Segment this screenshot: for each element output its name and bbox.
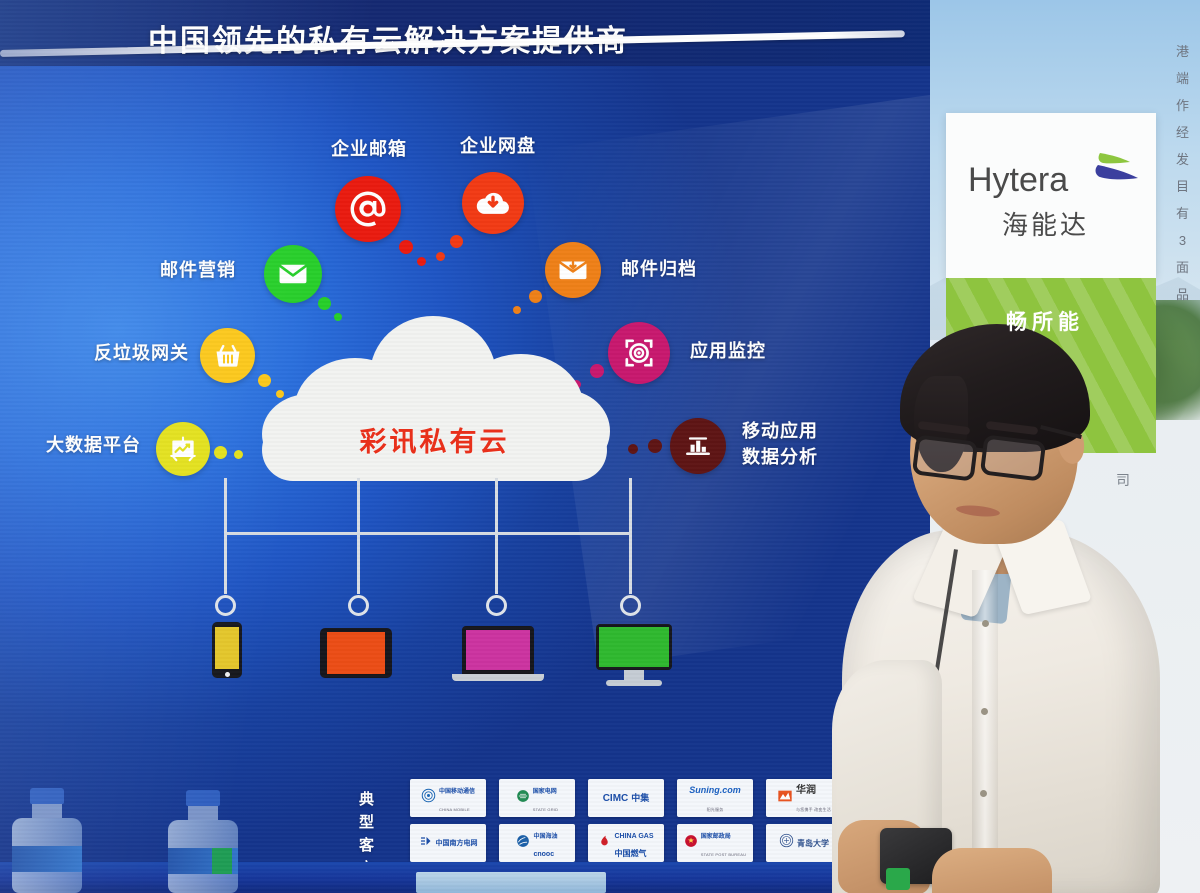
monitor-neck [624, 670, 644, 680]
customer-logo-suning: Suning.com 阳光服务 [677, 779, 753, 817]
device-desktop-monitor [596, 624, 672, 686]
bottle-label [12, 846, 82, 872]
logo-cn: 中集 [631, 795, 649, 802]
connector-ring [620, 595, 641, 616]
cloud-solution-banner: 中国领先的私有云解决方案提供商 企业邮箱 企业网盘 [0, 0, 930, 893]
trail-dot [417, 257, 426, 266]
customer-logo-grid: 中国移动通信 CHINA MOBILE 国家电网 STATE GRID CIMC [410, 779, 842, 869]
bottle-cap [30, 788, 64, 804]
connector-ring [348, 595, 369, 616]
customers-label-char: 典 [356, 788, 378, 811]
shirt-button [980, 790, 987, 797]
device-smartphone [212, 622, 242, 678]
green-banner-text: 畅所能 [1006, 306, 1084, 336]
bottle-neck [188, 806, 218, 820]
customer-logo-china-gas: CHINA GAS 中国燃气 [588, 824, 664, 862]
chart-easel-icon [156, 422, 210, 476]
basket-icon [200, 328, 255, 383]
logo-text-block: CHINA GAS 中国燃气 [614, 825, 653, 861]
node-label-mobile-app-analytics-line1: 移动应用 [742, 420, 818, 443]
hytera-wing-icon [1068, 147, 1146, 202]
bottle-neck [32, 804, 62, 818]
person-foreground [836, 320, 1166, 893]
paper-on-table [416, 872, 606, 893]
device-tablet [320, 628, 392, 678]
customers-label-char: 型 [356, 811, 378, 834]
monitor-screen [599, 627, 669, 667]
shirt-button [981, 708, 988, 715]
connector-trunk [224, 478, 227, 534]
logo-sub: 阳光服务 [707, 807, 724, 812]
bottle-cap [186, 790, 220, 806]
logo-cn: 中国移动通信 [439, 789, 475, 795]
state-grid-mark [516, 789, 530, 808]
customer-logo-china-resources: 华润 与您携手 改变生活 [766, 779, 842, 817]
customer-logo-china-mobile: 中国移动通信 CHINA MOBILE [410, 779, 486, 817]
customer-logo-university: 青岛大学 [766, 824, 842, 862]
logo-en: cnooc [533, 851, 554, 858]
target-monitor-icon [608, 322, 670, 384]
trail-dot [648, 439, 662, 453]
node-label-enterprise-disk: 企业网盘 [460, 135, 536, 158]
laptop-lid [462, 626, 534, 674]
logo-en: STATE POST BUREAU [701, 852, 746, 857]
cloud-download-icon [462, 172, 524, 234]
connector-ring [486, 595, 507, 616]
bar-chart-icon [670, 418, 726, 474]
node-label-app-monitoring: 应用监控 [690, 340, 766, 363]
logo-cn: 中国海油 [533, 834, 557, 840]
logo-en: CHINA MOBILE [439, 807, 470, 812]
connector-trunk [629, 478, 632, 534]
handheld-device-accent [886, 868, 910, 890]
customer-logo-state-grid: 国家电网 STATE GRID [499, 779, 575, 817]
connector-trunk [357, 478, 360, 534]
eyeglasses-lens-right [980, 434, 1046, 481]
node-label-mail-marketing: 邮件营销 [160, 259, 236, 282]
poster-vertical-text: 港端作经发目有3面品 [1174, 38, 1192, 308]
customer-logo-state-post-bureau: 国家邮政局 STATE POST BUREAU [677, 824, 753, 862]
monitor-bezel [596, 624, 672, 670]
water-bottle [168, 790, 238, 893]
exhibition-booth-photo: 中国领先的私有云解决方案提供商 企业邮箱 企业网盘 [0, 0, 1200, 893]
private-cloud-graphic: 彩讯私有云 [262, 316, 607, 481]
person-shirt-placket [972, 570, 998, 893]
customers-label-char: 客 [356, 834, 378, 857]
hytera-brand-name: Hytera [968, 161, 1068, 200]
logo-text-block: 华润 与您携手 改变生活 [796, 780, 831, 816]
china-resources-mark [777, 788, 793, 809]
trail-dot [513, 306, 521, 314]
logo-text-block: Suning.com 阳光服务 [689, 780, 741, 816]
logo-cn: 国家邮政局 [701, 834, 731, 840]
southern-grid-mark [419, 834, 433, 852]
logo-en: CHINA GAS [614, 833, 653, 840]
trail-dot [399, 240, 413, 254]
tablet-screen [327, 632, 385, 674]
logo-sub: 与您携手 改变生活 [796, 807, 831, 812]
connector-drop [495, 532, 498, 594]
node-label-antispam-gateway: 反垃圾网关 [94, 342, 189, 365]
at-sign-icon [335, 176, 401, 242]
customer-logo-cimc: CIMC 中集 [588, 779, 664, 817]
monitor-foot [606, 680, 662, 686]
trail-dot [214, 446, 227, 459]
eyeglasses-lens-left [912, 434, 978, 481]
customer-logo-china-southern-power-grid: 中国南方电网 [410, 824, 486, 862]
smartphone-home-button [225, 672, 230, 677]
connector-bus [224, 532, 632, 535]
water-bottle [12, 788, 82, 893]
hytera-logo-card: Hytera 海能达 [946, 113, 1156, 278]
customer-logo-cnooc: 中国海油 cnooc [499, 824, 575, 862]
university-seal-mark [779, 833, 794, 853]
trail-dot [450, 235, 463, 248]
node-label-mail-archive: 邮件归档 [621, 258, 697, 281]
connector-ring [215, 595, 236, 616]
trail-dot [234, 450, 243, 459]
laptop-screen [466, 630, 530, 670]
connector-drop [224, 532, 227, 594]
trail-dot [318, 297, 331, 310]
smartphone-screen [215, 627, 239, 669]
cnooc-mark [516, 834, 530, 853]
trail-dot [436, 252, 445, 261]
customer-logo-row: 中国移动通信 CHINA MOBILE 国家电网 STATE GRID CIMC [410, 779, 842, 817]
logo-cn: 青岛大学 [797, 840, 829, 847]
logo-en: CIMC [603, 795, 629, 802]
trail-dot [628, 444, 638, 454]
logo-cn: 华润 [796, 785, 816, 796]
logo-cn: 中国燃气 [614, 849, 646, 858]
china-gas-mark [598, 834, 611, 853]
cloud-title: 彩讯私有云 [262, 420, 607, 459]
shirt-button [982, 620, 989, 627]
bottle-label-accent [212, 848, 232, 874]
logo-text-block: 国家邮政局 STATE POST BUREAU [701, 825, 746, 861]
hytera-brand-cn: 海能达 [1002, 205, 1089, 242]
logo-text-block: 中国移动通信 CHINA MOBILE [439, 780, 475, 816]
logo-cn: 国家电网 [533, 789, 557, 795]
connector-drop [629, 532, 632, 594]
person-hand-right [932, 848, 1052, 893]
logo-text-block: 中国海油 cnooc [533, 825, 557, 861]
node-label-mobile-app-analytics-line2: 数据分析 [742, 446, 818, 469]
state-post-mark [684, 834, 698, 853]
node-label-bigdata-platform: 大数据平台 [46, 434, 141, 457]
logo-en: Suning.com [689, 785, 741, 795]
connector-trunk [495, 478, 498, 534]
device-laptop [462, 626, 544, 681]
trail-dot [529, 290, 542, 303]
connector-drop [357, 532, 360, 594]
laptop-base [452, 674, 544, 681]
logo-en: STATE GRID [533, 807, 558, 812]
envelope-icon [264, 245, 322, 303]
envelope-archive-icon [545, 242, 601, 298]
china-mobile-mark [421, 788, 436, 808]
logo-text-block: 国家电网 STATE GRID [533, 780, 558, 816]
logo-cn: 中国南方电网 [436, 840, 478, 847]
customer-logo-row: 中国南方电网 中国海油 cnooc CHINA G [410, 824, 842, 862]
node-label-enterprise-mail: 企业邮箱 [331, 138, 407, 161]
